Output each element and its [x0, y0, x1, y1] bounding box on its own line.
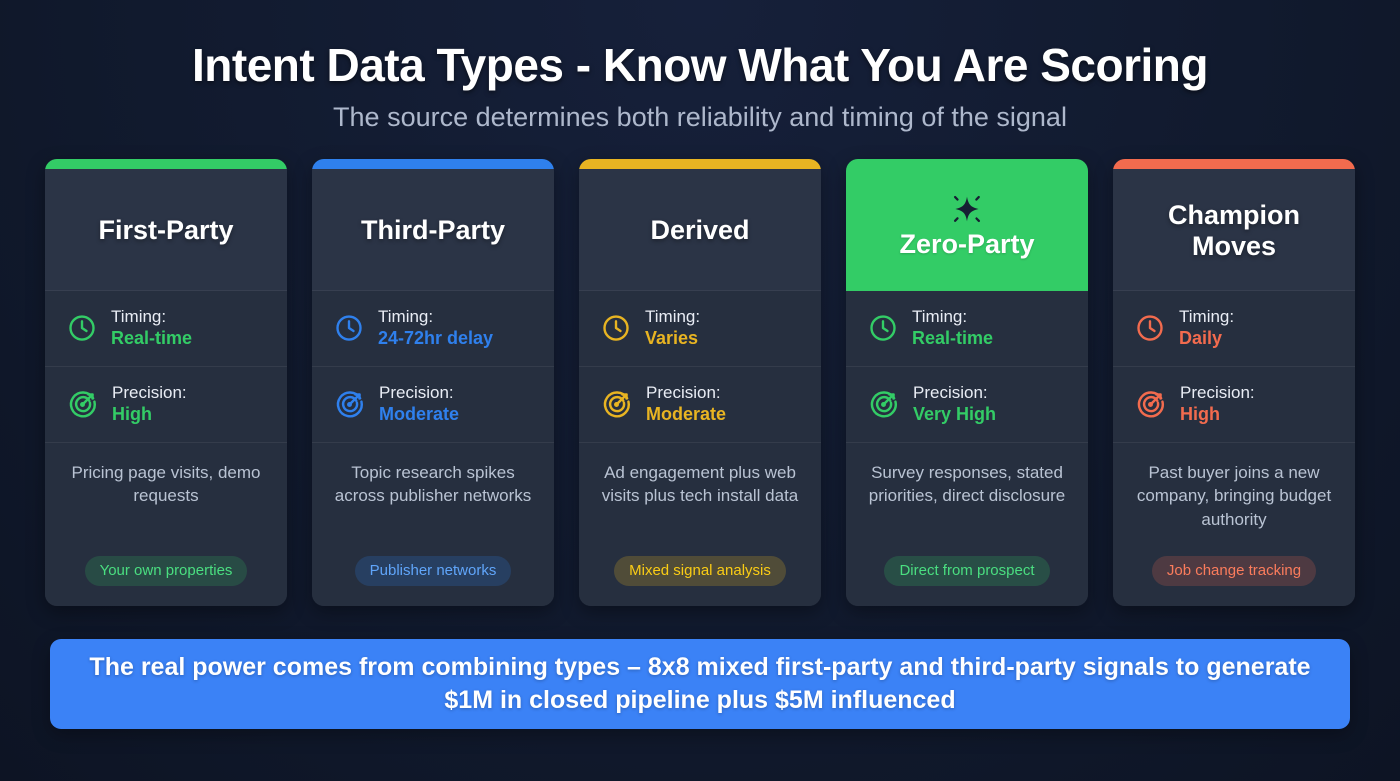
- intent-type-card[interactable]: First-PartyTiming:Real-timePrecision:Hig…: [45, 159, 287, 606]
- intent-type-card[interactable]: Third-PartyTiming:24-72hr delayPrecision…: [312, 159, 554, 606]
- badge-container: Mixed signal analysis: [593, 556, 807, 586]
- precision-label: Precision:: [1180, 383, 1255, 404]
- timing-value: Real-time: [912, 328, 993, 350]
- precision-row: Precision:Moderate: [312, 367, 554, 443]
- precision-text: Precision:High: [112, 383, 187, 427]
- badge-container: Your own properties: [59, 556, 273, 586]
- source-badge: Job change tracking: [1152, 556, 1316, 586]
- page-title: Intent Data Types - Know What You Are Sc…: [0, 40, 1400, 92]
- timing-value: Daily: [1179, 328, 1234, 350]
- target-icon: [334, 389, 365, 420]
- timing-label: Timing:: [912, 307, 993, 328]
- header: Intent Data Types - Know What You Are Sc…: [0, 0, 1400, 133]
- card-body: Pricing page visits, demo requestsYour o…: [45, 443, 287, 606]
- precision-text: Precision:Moderate: [379, 383, 459, 427]
- page-subtitle: The source determines both reliability a…: [0, 101, 1400, 133]
- sparkle-icon: [950, 193, 984, 227]
- target-icon: [67, 389, 98, 420]
- precision-value: High: [1180, 404, 1255, 426]
- precision-text: Precision:High: [1180, 383, 1255, 427]
- timing-text: Timing:Daily: [1179, 307, 1234, 351]
- intent-type-card[interactable]: DerivedTiming:VariesPrecision:ModerateAd…: [579, 159, 821, 606]
- infographic-root: Intent Data Types - Know What You Are Sc…: [0, 0, 1400, 781]
- card-title: Zero-Party: [899, 229, 1034, 261]
- card-accent-bar: [1113, 159, 1355, 169]
- timing-text: Timing:Real-time: [912, 307, 993, 351]
- timing-label: Timing:: [645, 307, 700, 328]
- card-description: Topic research spikes across publisher n…: [326, 461, 540, 508]
- precision-row: Precision:Moderate: [579, 367, 821, 443]
- timing-text: Timing:24-72hr delay: [378, 307, 493, 351]
- precision-label: Precision:: [112, 383, 187, 404]
- precision-value: High: [112, 404, 187, 426]
- card-description: Survey responses, stated priorities, dir…: [860, 461, 1074, 508]
- source-badge: Your own properties: [85, 556, 248, 586]
- precision-value: Very High: [913, 404, 996, 426]
- timing-row: Timing:Real-time: [846, 291, 1088, 367]
- precision-label: Precision:: [379, 383, 459, 404]
- precision-label: Precision:: [913, 383, 996, 404]
- card-header: First-Party: [45, 169, 287, 291]
- card-title: Derived: [650, 215, 749, 247]
- source-badge: Publisher networks: [355, 556, 512, 586]
- card-body: Survey responses, stated priorities, dir…: [846, 443, 1088, 606]
- timing-value: Varies: [645, 328, 700, 350]
- card-header: Third-Party: [312, 169, 554, 291]
- card-header: Derived: [579, 169, 821, 291]
- clock-icon: [601, 313, 631, 343]
- timing-row: Timing:Daily: [1113, 291, 1355, 367]
- card-title: Champion Moves: [1125, 200, 1343, 264]
- target-icon: [1135, 389, 1166, 420]
- clock-icon: [868, 313, 898, 343]
- card-body: Ad engagement plus web visits plus tech …: [579, 443, 821, 606]
- badge-container: Publisher networks: [326, 556, 540, 586]
- card-description: Past buyer joins a new company, bringing…: [1127, 461, 1341, 531]
- clock-icon: [67, 313, 97, 343]
- badge-container: Job change tracking: [1127, 556, 1341, 586]
- target-icon: [601, 389, 632, 420]
- timing-row: Timing:24-72hr delay: [312, 291, 554, 367]
- clock-icon: [334, 313, 364, 343]
- precision-text: Precision:Moderate: [646, 383, 726, 427]
- precision-row: Precision:High: [45, 367, 287, 443]
- precision-text: Precision:Very High: [913, 383, 996, 427]
- precision-row: Precision:High: [1113, 367, 1355, 443]
- timing-label: Timing:: [378, 307, 493, 328]
- cards-row: First-PartyTiming:Real-timePrecision:Hig…: [45, 159, 1355, 606]
- card-accent-bar: [312, 159, 554, 169]
- source-badge: Mixed signal analysis: [614, 556, 786, 586]
- card-title: Third-Party: [361, 215, 505, 247]
- timing-value: Real-time: [111, 328, 192, 350]
- timing-row: Timing:Real-time: [45, 291, 287, 367]
- card-header: Champion Moves: [1113, 169, 1355, 291]
- card-description: Pricing page visits, demo requests: [59, 461, 273, 508]
- card-header: Zero-Party: [846, 159, 1088, 291]
- timing-label: Timing:: [1179, 307, 1234, 328]
- card-accent-bar: [45, 159, 287, 169]
- card-accent-bar: [579, 159, 821, 169]
- timing-label: Timing:: [111, 307, 192, 328]
- card-title: First-Party: [98, 215, 233, 247]
- card-description: Ad engagement plus web visits plus tech …: [593, 461, 807, 508]
- timing-value: 24-72hr delay: [378, 328, 493, 350]
- source-badge: Direct from prospect: [884, 556, 1049, 586]
- intent-type-card[interactable]: Zero-PartyTiming:Real-timePrecision:Very…: [846, 159, 1088, 606]
- precision-row: Precision:Very High: [846, 367, 1088, 443]
- target-icon: [868, 389, 899, 420]
- clock-icon: [1135, 313, 1165, 343]
- card-body: Topic research spikes across publisher n…: [312, 443, 554, 606]
- timing-text: Timing:Real-time: [111, 307, 192, 351]
- precision-value: Moderate: [379, 404, 459, 426]
- precision-label: Precision:: [646, 383, 726, 404]
- timing-row: Timing:Varies: [579, 291, 821, 367]
- timing-text: Timing:Varies: [645, 307, 700, 351]
- badge-container: Direct from prospect: [860, 556, 1074, 586]
- intent-type-card[interactable]: Champion MovesTiming:DailyPrecision:High…: [1113, 159, 1355, 606]
- summary-banner: The real power comes from combining type…: [50, 639, 1350, 729]
- card-body: Past buyer joins a new company, bringing…: [1113, 443, 1355, 606]
- summary-banner-text: The real power comes from combining type…: [80, 651, 1320, 717]
- precision-value: Moderate: [646, 404, 726, 426]
